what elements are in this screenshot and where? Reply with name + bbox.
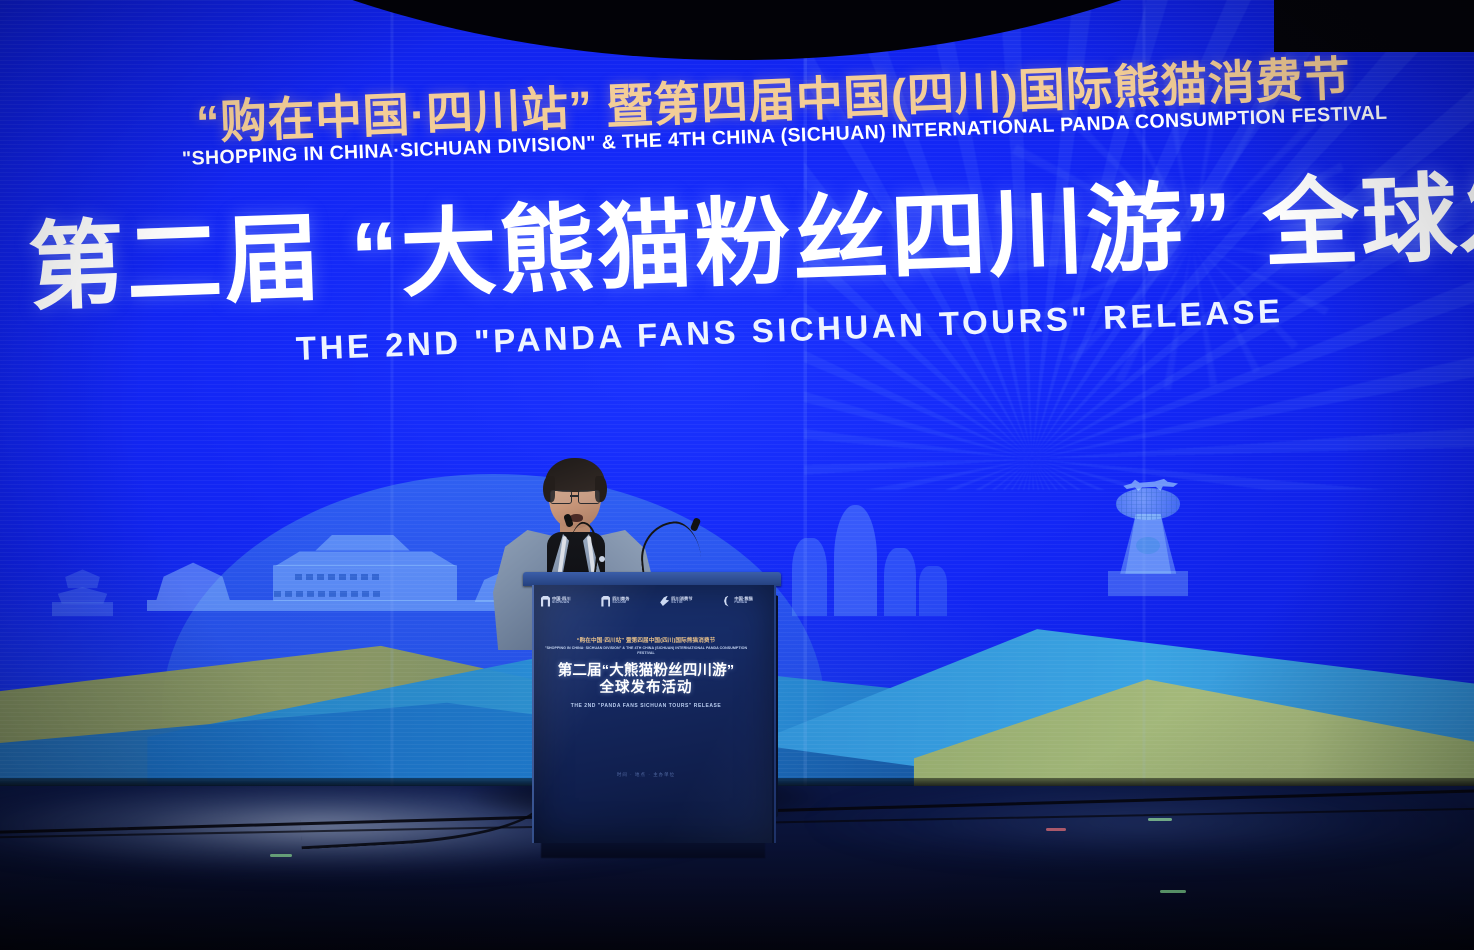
palace-main-hall bbox=[273, 565, 457, 601]
sponsor-logo-2-en: SCCOM bbox=[612, 601, 629, 604]
eyeglasses-icon bbox=[550, 490, 601, 503]
radial-ribbon-watermark-secondary-icon bbox=[994, 60, 1354, 390]
radial-ribbon-watermark-icon bbox=[804, 0, 1474, 490]
podium-footer-text: 时间 · 地点 · 主办单位 bbox=[537, 772, 755, 778]
podium-front-panel bbox=[532, 585, 776, 843]
stage-marker-tape-green-1 bbox=[270, 854, 292, 857]
sponsor-logo-4-mark-icon bbox=[723, 596, 732, 607]
palace-upper-roof bbox=[304, 533, 422, 550]
speaker-lapel-pin-icon bbox=[599, 556, 605, 562]
podium-title-block: “购在中国·四川站” 暨第四届中国(四川)国际熊猫消费节 "SHOPPING I… bbox=[537, 638, 755, 709]
palace-window-row-lower bbox=[274, 591, 380, 597]
screen-top-right-mask bbox=[1274, 0, 1474, 52]
stage-marker-tape-green-3 bbox=[1160, 890, 1186, 893]
stage-scene: “购在中国·四川站” 暨第四届中国(四川)国际熊猫消费节 "SHOPPING I… bbox=[0, 0, 1474, 950]
modern-skyline-silhouette-icon bbox=[781, 490, 958, 616]
podium-title-english: THE 2ND "PANDA FANS SICHUAN TOURS" RELEA… bbox=[537, 703, 755, 709]
flying-horse-monument-icon bbox=[1098, 454, 1198, 596]
pagoda-silhouette-icon bbox=[52, 553, 114, 616]
podium-sponsor-logo-strip: 中国·四川 SICHUAN 四川商务 SCCOM 四川消费节 SCTIG bbox=[541, 592, 753, 610]
sponsor-logo-2-mark-icon bbox=[601, 596, 610, 607]
palace-left-pavilion bbox=[156, 559, 230, 600]
podium-title-chinese-line1: 第二届“大熊猫粉丝四川游” bbox=[537, 663, 755, 680]
palace-window-row-upper bbox=[295, 574, 379, 580]
palace-main-roof bbox=[262, 548, 468, 566]
podium-gold-chinese: “购在中国·四川站” 暨第四届中国(四川)国际熊猫消费节 bbox=[537, 638, 755, 645]
screen-title-block: “购在中国·四川站” 暨第四届中国(四川)国际熊猫消费节 "SHOPPING I… bbox=[0, 0, 1474, 420]
sponsor-logo-1-en: SICHUAN bbox=[552, 601, 571, 604]
stage-marker-tape-green-2 bbox=[1148, 818, 1172, 821]
podium-top-surface bbox=[523, 572, 781, 586]
sponsor-logo-3-mark-icon bbox=[660, 596, 669, 607]
stage-marker-tape-red bbox=[1046, 828, 1066, 831]
screen-top-curved-edge bbox=[0, 0, 1474, 60]
sponsor-logo-4-en: PANDA bbox=[734, 601, 753, 604]
sponsor-logo-2: 四川商务 SCCOM bbox=[601, 596, 629, 607]
headline-english: THE 2ND "PANDA FANS SICHUAN TOURS" RELEA… bbox=[295, 292, 1284, 368]
hill-blue-right bbox=[678, 600, 1474, 790]
festival-gold-english-line: "SHOPPING IN CHINA·SICHUAN DIVISION" & T… bbox=[182, 102, 1388, 171]
podium-title-chinese-line2: 全球发布活动 bbox=[537, 680, 755, 697]
sponsor-logo-1-mark-icon bbox=[541, 596, 550, 607]
speaker-mouth bbox=[570, 514, 583, 522]
sponsor-logo-1: 中国·四川 SICHUAN bbox=[541, 596, 571, 607]
sponsor-logo-3: 四川消费节 SCTIG bbox=[660, 596, 692, 607]
podium-lectern: 中国·四川 SICHUAN 四川商务 SCCOM 四川消费节 SCTIG bbox=[523, 572, 781, 862]
headline-chinese: 第二届 “大熊猫粉丝四川游” 全球发布 活动 bbox=[26, 125, 1474, 329]
sponsor-logo-4: 中国·熊猫 PANDA bbox=[723, 596, 753, 607]
hill-olive-right bbox=[914, 648, 1474, 790]
podium-gold-english: "SHOPPING IN CHINA· SICHUAN DIVISION" & … bbox=[537, 646, 755, 656]
sponsor-logo-3-en: SCTIG bbox=[671, 601, 692, 604]
